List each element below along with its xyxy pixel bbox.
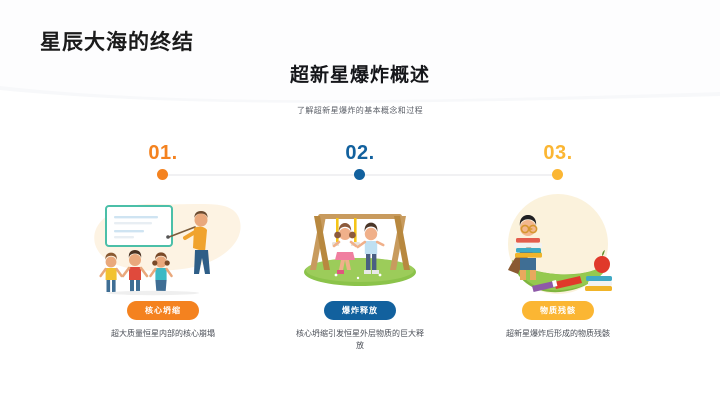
step-column-3: 物质残骸 超新星爆炸后形成的物质残骸 [468,192,648,340]
badge-container-2: 爆炸释放 [270,300,450,320]
step-description-2: 核心坍缩引发恒星外层物质的巨大释放 [270,328,450,353]
timeline-dot-3 [552,169,563,180]
badge-container-1: 核心坍缩 [73,300,253,320]
main-heading: 超新星爆炸概述 [0,60,720,87]
step-description-3: 超新星爆炸后形成的物质残骸 [468,328,648,340]
presentation-slide: 星辰大海的终结 超新星爆炸概述 了解超新星爆炸的基本概念和过程 01. 02. … [0,0,720,405]
step-description-1: 超大质量恒星内部的核心崩塌 [73,328,253,340]
step-number-3: 03. [498,142,618,165]
page-title: 星辰大海的终结 [40,26,194,56]
boy-with-books-apple-illustration [468,192,648,296]
timeline-dot-1 [157,169,168,180]
status-badge-1: 核心坍缩 [127,301,199,320]
children-swing-set-illustration [270,192,450,296]
teacher-whiteboard-children-illustration [73,192,253,296]
step-column-1: 核心坍缩 超大质量恒星内部的核心崩塌 [73,192,253,340]
step-column-2: 爆炸释放 核心坍缩引发恒星外层物质的巨大释放 [270,192,450,353]
main-subheading: 了解超新星爆炸的基本概念和过程 [0,105,720,116]
timeline-dot-2 [354,169,365,180]
step-number-1: 01. [103,142,223,165]
status-badge-2: 爆炸释放 [324,301,396,320]
status-badge-3: 物质残骸 [522,301,594,320]
step-number-2: 02. [300,142,420,165]
badge-container-3: 物质残骸 [468,300,648,320]
